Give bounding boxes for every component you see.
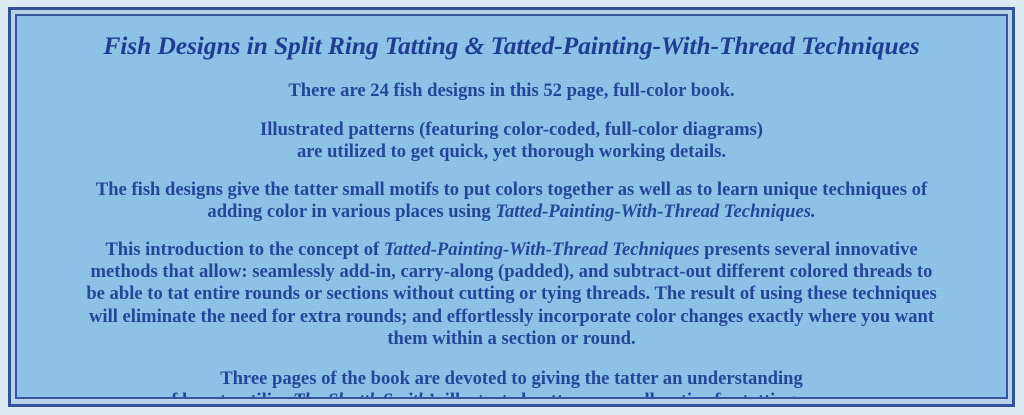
paragraph-illustrated-patterns: Illustrated patterns (featuring color-co… [33, 119, 990, 163]
body-text: This introduction to the concept of [105, 239, 384, 260]
body-text: There are 24 fish designs in this 52 pag… [288, 80, 734, 101]
spacer [33, 163, 990, 179]
decorative-outer-frame: Fish Designs in Split Ring Tatting & Tat… [8, 7, 1015, 407]
paragraph-introduction-concept: This introduction to the concept of Tatt… [33, 239, 990, 350]
decorative-inner-frame: Fish Designs in Split Ring Tatting & Tat… [15, 14, 1008, 399]
description-content: Fish Designs in Split Ring Tatting & Tat… [17, 16, 1006, 397]
emphasized-text: Tatted-Painting-With-Thread Techniques [384, 239, 700, 260]
spacer [33, 223, 990, 239]
body-text: methods that allow: seamlessly add-in, c… [91, 261, 933, 282]
paragraph-three-pages: Three pages of the book are devoted to g… [33, 368, 990, 399]
paragraph-availability: There are 24 fish designs in this 52 pag… [33, 80, 990, 102]
body-text: presents several innovative [700, 239, 918, 260]
paragraph-fish-designs: The fish designs give the tatter small m… [33, 179, 990, 223]
body-text: illustrated patterns as well as tips for… [440, 390, 861, 399]
body-text: Illustrated patterns (featuring color-co… [260, 119, 763, 140]
body-text: them within a section or round. [387, 328, 635, 349]
body-text: be able to tat entire rounds or sections… [86, 283, 936, 304]
book-description-page: Fish Designs in Split Ring Tatting & Tat… [0, 0, 1024, 415]
spacer [33, 350, 990, 368]
body-text: Three pages of the book are devoted to g… [220, 368, 803, 389]
spacer [33, 102, 990, 119]
body-text: adding color in various places using [207, 201, 495, 222]
body-text: are utilized to get quick, yet thorough … [297, 141, 726, 162]
body-text: of how to utilize [162, 390, 293, 399]
page-title: Fish Designs in Split Ring Tatting & Tat… [33, 32, 990, 61]
body-text: The fish designs give the tatter small m… [96, 179, 927, 200]
spacer [33, 61, 990, 80]
emphasized-text: The ShuttleSmith’s [293, 390, 440, 399]
emphasized-text: Tatted-Painting-With-Thread Techniques. [495, 201, 815, 222]
body-text: will eliminate the need for extra rounds… [89, 306, 934, 327]
